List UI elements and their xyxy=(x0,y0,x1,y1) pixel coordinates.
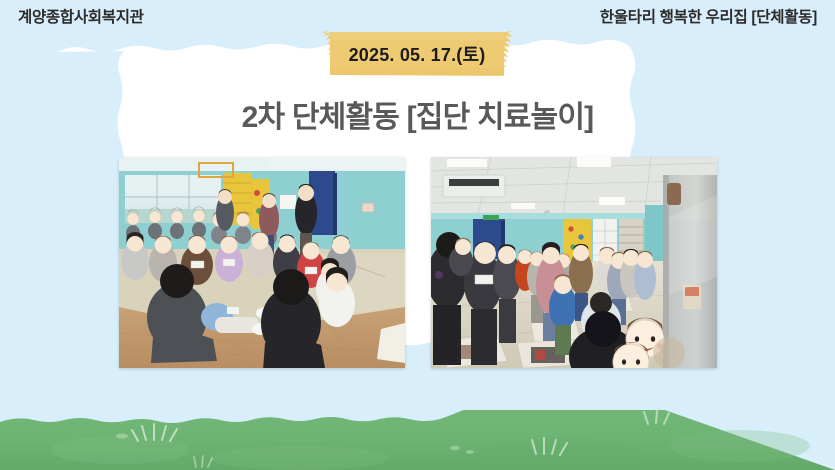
date-label: 2025. 05. 17.(토) xyxy=(316,28,518,78)
date-tape-banner: 2025. 05. 17.(토) xyxy=(316,28,518,78)
photo-gallery xyxy=(0,157,835,368)
organization-name: 계양종합사회복지관 xyxy=(18,5,144,27)
photo-standing-newspaper-activity[interactable] xyxy=(431,157,717,368)
slide-canvas: 계양종합사회복지관 한울타리 행복한 우리집 [단체활동] 2025. 05. … xyxy=(0,0,835,470)
program-name: 한울타리 행복한 우리집 [단체활동] xyxy=(600,5,817,27)
photo-group-circle-activity[interactable] xyxy=(119,157,405,368)
grass-decoration xyxy=(0,410,835,470)
page-title: 2차 단체활동 [집단 치료놀이] xyxy=(0,92,835,136)
